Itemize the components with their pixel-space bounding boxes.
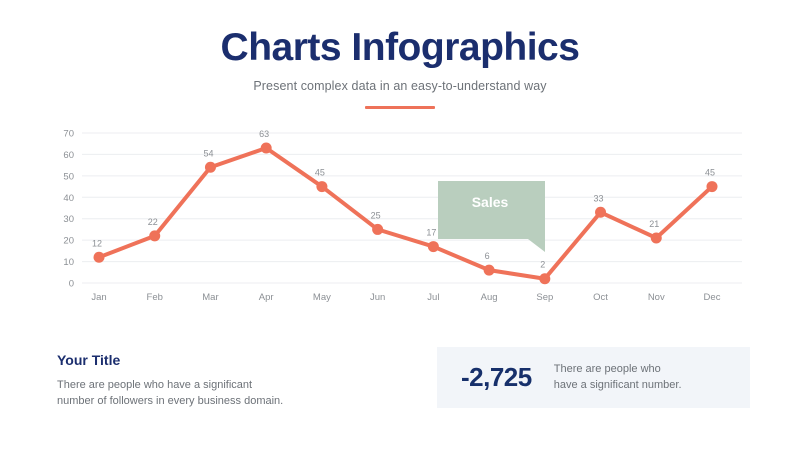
text-block: Your Title There are people who have a s…: [57, 352, 357, 410]
data-point[interactable]: [261, 143, 272, 154]
y-axis-tick-label: 10: [63, 257, 74, 268]
page-subtitle: Present complex data in an easy-to-under…: [0, 70, 800, 93]
stat-description: There are people who have a significant …: [554, 362, 682, 394]
x-axis-tick-label: Jun: [370, 292, 385, 303]
block-body-line2: number of followers in every business do…: [57, 395, 283, 407]
accent-divider: [365, 106, 435, 109]
data-point[interactable]: [428, 241, 439, 252]
x-axis-tick-label: Nov: [648, 292, 665, 303]
y-axis-ticks: 010203040506070: [63, 129, 74, 290]
stat-card: -2,725 There are people who have a signi…: [437, 347, 750, 408]
data-point[interactable]: [205, 162, 216, 173]
page-title: Charts Infographics: [0, 0, 800, 70]
data-point[interactable]: [651, 233, 662, 244]
block-body: There are people who have a significant …: [57, 368, 357, 410]
x-axis-tick-label: Oct: [593, 292, 608, 303]
data-point-label: 25: [371, 210, 381, 220]
y-axis-tick-label: 0: [69, 279, 74, 290]
grid-lines: [82, 133, 742, 283]
x-axis-tick-label: Jul: [427, 292, 439, 303]
series-line-sales: [99, 148, 712, 279]
data-point-label: 63: [259, 129, 269, 139]
x-axis-tick-label: Sep: [536, 292, 553, 303]
y-axis-tick-label: 70: [63, 129, 74, 140]
y-axis-tick-label: 30: [63, 214, 74, 225]
stat-number: -2,725: [461, 362, 532, 393]
y-axis-tick-label: 50: [63, 171, 74, 182]
block-body-line1: There are people who have a significant: [57, 379, 252, 391]
x-axis-tick-label: Aug: [481, 292, 498, 303]
data-point-label: 2: [540, 260, 545, 270]
bottom-section: Your Title There are people who have a s…: [0, 340, 800, 450]
data-point-label: 17: [426, 228, 436, 238]
x-axis-tick-label: May: [313, 292, 331, 303]
data-point-label: 54: [203, 148, 213, 158]
stat-desc-line1: There are people who: [554, 363, 661, 375]
x-axis-ticks: JanFebMarAprMayJunJulAugSepOctNovDec: [91, 292, 720, 303]
sales-callout: Sales: [438, 181, 545, 252]
data-point-label: 22: [148, 217, 158, 227]
data-point[interactable]: [149, 230, 160, 241]
x-axis-tick-label: Apr: [259, 292, 274, 303]
callout-label: Sales: [472, 194, 509, 210]
line-chart: 010203040506070 JanFebMarAprMayJunJulAug…: [0, 125, 800, 315]
data-point-label: 45: [315, 168, 325, 178]
header: Charts Infographics Present complex data…: [0, 0, 800, 109]
y-axis-tick-label: 40: [63, 193, 74, 204]
x-axis-tick-label: Feb: [147, 292, 163, 303]
chart-canvas: 010203040506070 JanFebMarAprMayJunJulAug…: [0, 125, 800, 315]
data-point[interactable]: [595, 207, 606, 218]
data-point[interactable]: [707, 181, 718, 192]
series-points: [94, 143, 718, 285]
x-axis-tick-label: Jan: [91, 292, 106, 303]
data-point-label: 12: [92, 238, 102, 248]
data-point-label: 21: [649, 219, 659, 229]
data-point[interactable]: [372, 224, 383, 235]
block-title: Your Title: [57, 352, 357, 368]
x-axis-tick-label: Dec: [704, 292, 721, 303]
data-point[interactable]: [94, 252, 105, 263]
data-point[interactable]: [484, 265, 495, 276]
y-axis-tick-label: 20: [63, 236, 74, 247]
y-axis-tick-label: 60: [63, 150, 74, 161]
data-point-label: 45: [705, 168, 715, 178]
x-axis-tick-label: Mar: [202, 292, 218, 303]
data-point[interactable]: [539, 273, 550, 284]
data-point-label: 33: [594, 193, 604, 203]
data-point-label: 6: [485, 251, 490, 261]
stat-desc-line2: have a significant number.: [554, 379, 682, 391]
data-point[interactable]: [316, 181, 327, 192]
